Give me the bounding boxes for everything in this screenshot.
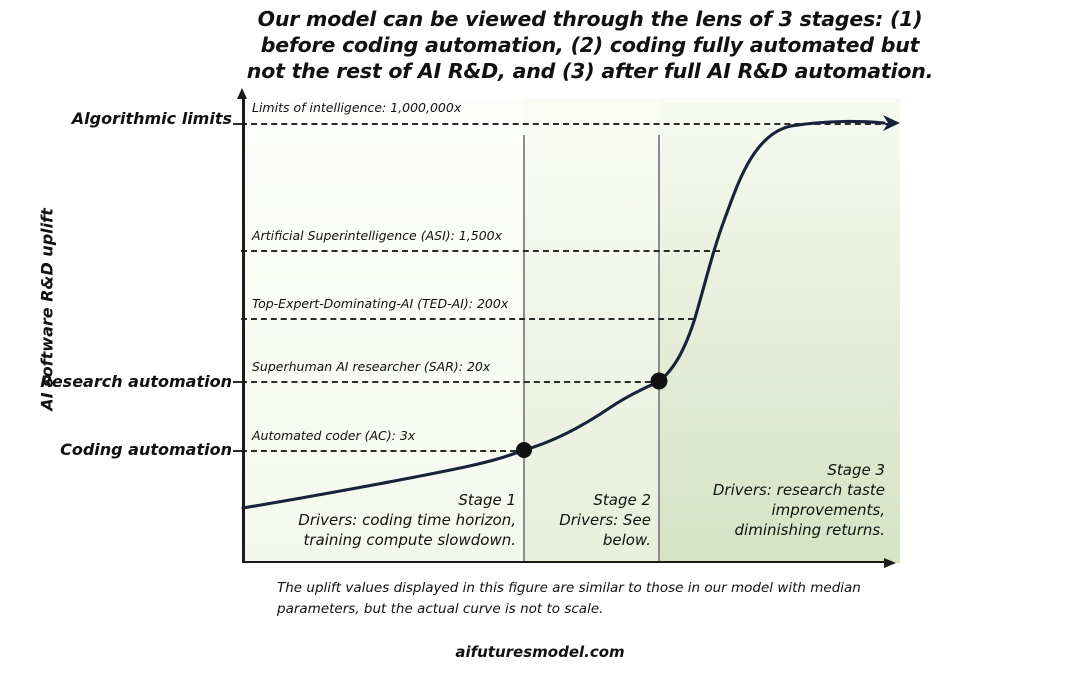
threshold-label-sar: Superhuman AI researcher (SAR): 20x [252, 359, 490, 374]
stage-divider-1 [523, 135, 525, 563]
threshold-line-limits [241, 123, 891, 125]
x-axis-arrowhead [884, 558, 896, 568]
stage-1-line-2: training compute slowdown. [273, 530, 516, 550]
figure-footnote: The uplift values displayed in this figu… [277, 578, 877, 620]
stage-3-header: Stage 3 [663, 460, 885, 480]
figure-source-footer: aifuturesmodel.com [0, 643, 1080, 661]
y-axis-arrowhead [237, 88, 247, 99]
stage-3-annotation: Stage 3 Drivers: research taste improvem… [663, 460, 885, 540]
y-axis-line [242, 98, 245, 563]
threshold-label-asi: Artificial Superintelligence (ASI): 1,50… [252, 228, 502, 243]
stage-1-header: Stage 1 [273, 490, 516, 510]
plot-area: Limits of intelligence: 1,000,000x Artif… [243, 98, 900, 563]
y-tick-label-coding-automation: Coding automation [20, 440, 232, 459]
stage-2-header: Stage 2 [533, 490, 651, 510]
stage-3-line-1: Drivers: research taste [663, 480, 885, 500]
threshold-line-ted-ai [241, 318, 694, 320]
stage-1-line-1: Drivers: coding time horizon, [273, 510, 516, 530]
y-tick-label-algorithmic-limits: Algorithmic limits [20, 109, 232, 128]
threshold-label-ac: Automated coder (AC): 3x [252, 428, 415, 443]
threshold-line-asi [241, 250, 720, 252]
stage-2-line-2: below. [533, 530, 651, 550]
threshold-label-limits: Limits of intelligence: 1,000,000x [252, 100, 461, 115]
chart-title: Our model can be viewed through the lens… [240, 6, 940, 84]
stage-2-line-1: Drivers: See [533, 510, 651, 530]
x-axis-line [242, 561, 892, 564]
stage-divider-2 [658, 135, 660, 563]
y-tick-label-research-automation: Research automation [20, 372, 232, 391]
threshold-line-sar [241, 381, 661, 383]
stage-1-annotation: Stage 1 Drivers: coding time horizon, tr… [273, 490, 516, 550]
figure-root: Our model can be viewed through the lens… [0, 0, 1080, 685]
stage-3-line-2: improvements, [663, 500, 885, 520]
threshold-label-ted-ai: Top-Expert-Dominating-AI (TED-AI): 200x [252, 296, 508, 311]
stage-2-annotation: Stage 2 Drivers: See below. [533, 490, 651, 550]
threshold-line-ac [241, 450, 526, 452]
stage-3-line-3: diminishing returns. [663, 520, 885, 540]
